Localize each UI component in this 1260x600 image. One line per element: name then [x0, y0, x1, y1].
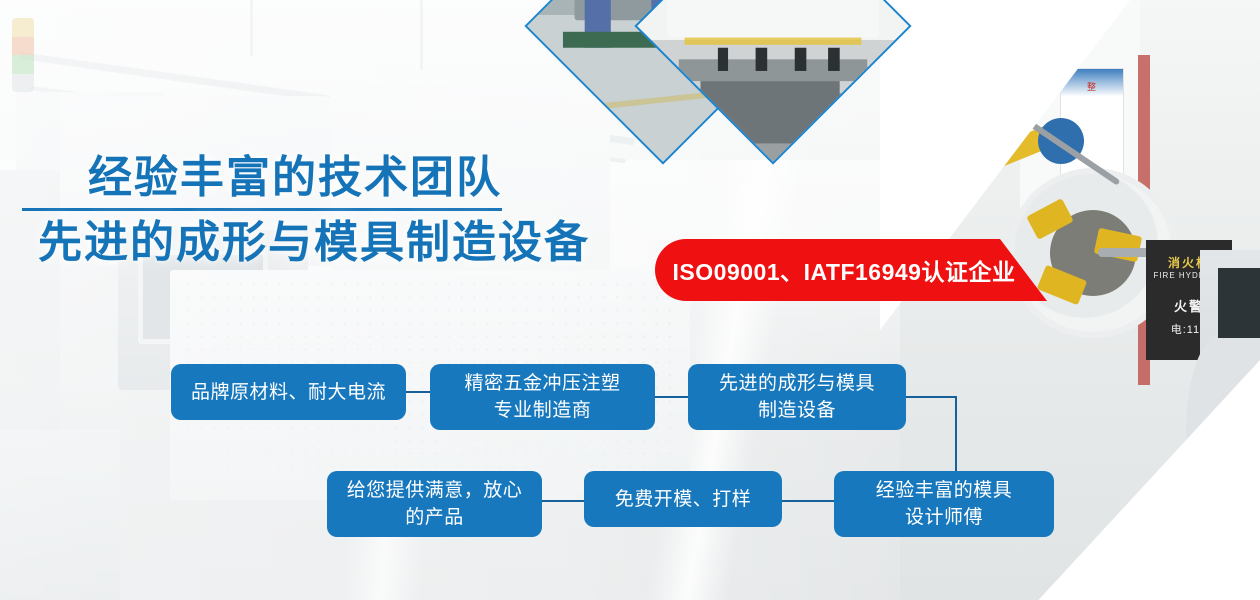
- die-post: [756, 48, 767, 70]
- flow-connector: [780, 500, 836, 502]
- promotional-banner: 整 消火栓 FIRE HYDRANT 火警 电:119: [0, 0, 1260, 600]
- flow-connector: [653, 396, 690, 398]
- headline-block: 经验丰富的技术团队 先进的成形与模具制造设备: [22, 152, 662, 271]
- headline-line-2: 先进的成形与模具制造设备: [22, 215, 662, 271]
- press-frame: [667, 0, 879, 37]
- flow-node-precision-manufacturer[interactable]: 精密五金冲压注塑 专业制造商: [430, 364, 655, 430]
- flow-connector: [904, 396, 957, 398]
- flow-connector: [404, 391, 432, 393]
- flow-node-advanced-equipment[interactable]: 先进的成形与模具 制造设备: [688, 364, 906, 430]
- die-post: [795, 48, 806, 70]
- headline-line-1: 经验丰富的技术团队: [22, 152, 502, 211]
- die-post: [829, 48, 840, 70]
- flow-node-free-tooling-sample[interactable]: 免费开模、打样: [584, 471, 782, 527]
- machine-monitor: [1218, 268, 1260, 338]
- flow-node-experienced-designers[interactable]: 经验丰富的模具 设计师傅: [834, 471, 1054, 537]
- certification-badge: ISO09001、IATF16949认证企业: [655, 239, 1047, 301]
- flow-node-satisfying-products[interactable]: 给您提供满意，放心 的产品: [327, 471, 542, 537]
- process-flow-chart: 品牌原材料、耐大电流 精密五金冲压注塑 专业制造商 先进的成形与模具 制造设备 …: [0, 340, 1260, 570]
- flow-node-brand-materials[interactable]: 品牌原材料、耐大电流: [171, 364, 406, 420]
- flow-connector: [540, 500, 586, 502]
- certification-badge-text: ISO09001、IATF16949认证企业: [655, 239, 1047, 301]
- die-post: [717, 48, 728, 70]
- press-safety-stripe: [684, 37, 862, 45]
